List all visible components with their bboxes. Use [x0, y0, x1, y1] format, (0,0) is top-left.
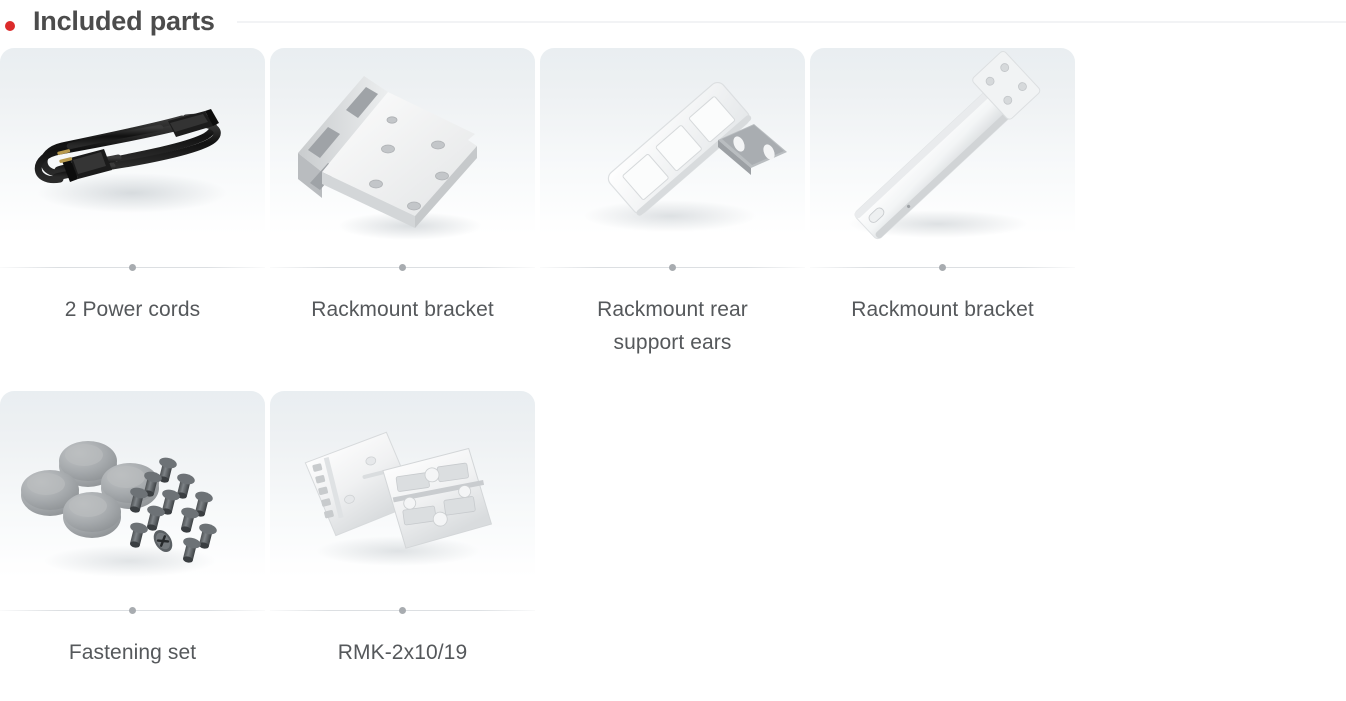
part-caption-line: Rackmount rear — [540, 293, 805, 326]
part-card[interactable]: RMK-2x10/19 — [270, 391, 535, 669]
card-divider — [540, 262, 805, 274]
part-caption-line: support ears — [540, 326, 805, 359]
part-card[interactable]: Rackmount rear support ears — [540, 48, 805, 359]
divider-dot-icon — [939, 264, 946, 271]
part-caption: RMK-2x10/19 — [270, 636, 535, 669]
divider-dot-icon — [399, 264, 406, 271]
part-card[interactable]: Fastening set — [0, 391, 265, 669]
red-bullet-icon — [5, 21, 15, 31]
rmk-mount-kit-image — [270, 391, 535, 603]
card-divider — [810, 262, 1075, 274]
header-divider-rule — [237, 21, 1346, 23]
page-title: Included parts — [33, 6, 215, 37]
section-header: Included parts — [0, 0, 1346, 48]
part-caption: Rackmount rear support ears — [540, 293, 805, 359]
power-cord-image — [0, 48, 265, 260]
part-image-frame — [0, 391, 265, 603]
card-divider — [270, 605, 535, 617]
rackmount-bracket-l-image — [270, 48, 535, 260]
rackmount-rear-support-ears-image — [540, 48, 805, 260]
part-card[interactable]: Rackmount bracket — [810, 48, 1075, 359]
part-image-frame — [270, 391, 535, 603]
part-caption: Fastening set — [0, 636, 265, 669]
rackmount-bracket-rail-image — [810, 48, 1075, 260]
part-caption: 2 Power cords — [0, 293, 265, 326]
part-image-frame — [270, 48, 535, 260]
part-card[interactable]: Rackmount bracket — [270, 48, 535, 359]
card-divider — [0, 605, 265, 617]
card-divider — [0, 262, 265, 274]
card-divider — [270, 262, 535, 274]
part-image-frame — [540, 48, 805, 260]
part-caption: Rackmount bracket — [810, 293, 1075, 326]
part-caption: Rackmount bracket — [270, 293, 535, 326]
divider-dot-icon — [399, 607, 406, 614]
divider-dot-icon — [129, 264, 136, 271]
part-image-frame — [810, 48, 1075, 260]
fastening-set-image — [0, 391, 265, 603]
divider-dot-icon — [669, 264, 676, 271]
part-image-frame — [0, 48, 265, 260]
included-parts-grid: 2 Power cords — [0, 48, 1346, 701]
part-card[interactable]: 2 Power cords — [0, 48, 265, 359]
divider-dot-icon — [129, 607, 136, 614]
